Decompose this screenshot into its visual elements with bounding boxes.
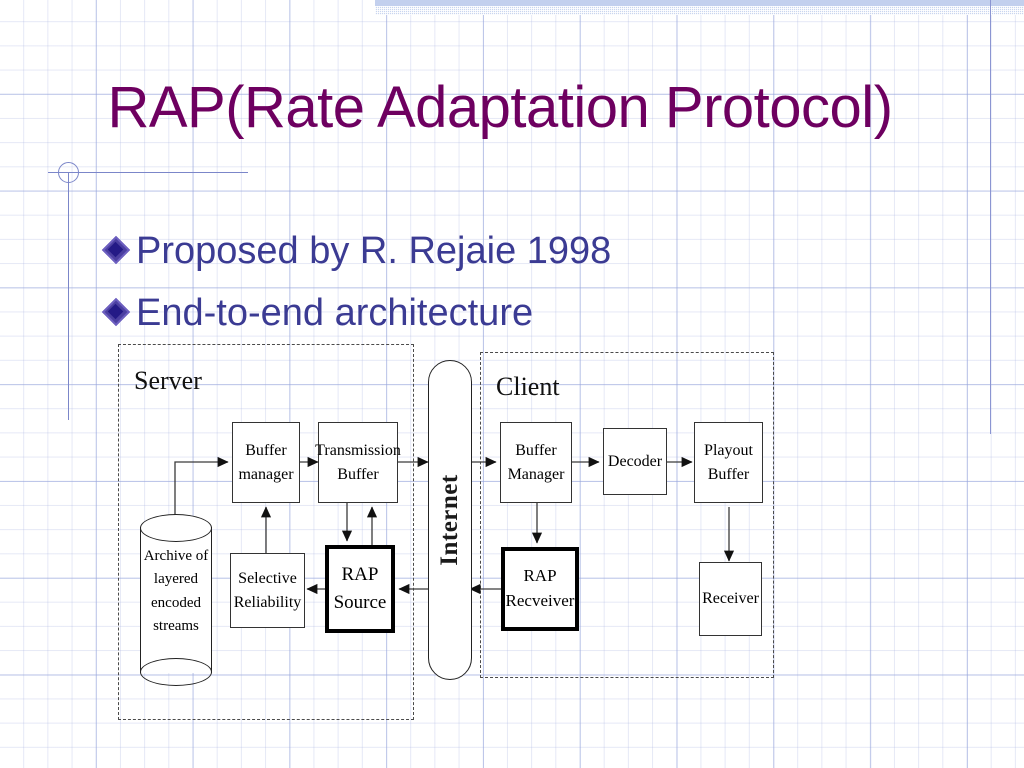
internet-label: Internet	[436, 474, 464, 565]
node-transmission-buffer: TransmissionBuffer	[318, 422, 398, 503]
server-zone-label: Server	[134, 366, 202, 396]
node-rap-receiver: RAPRecveiver	[501, 547, 579, 631]
node-playout-buffer: PlayoutBuffer	[694, 422, 763, 503]
node-buffer-manager: Buffermanager	[232, 422, 300, 503]
internet-cloud: Internet	[428, 360, 472, 680]
node-decoder: Decoder	[603, 428, 667, 495]
archive-label: Archive oflayeredencodedstreams	[141, 545, 211, 638]
node-receiver: Receiver	[699, 562, 762, 636]
node-client-buffer-manager: BufferManager	[500, 422, 572, 503]
node-selective-reliability: SelectiveReliability	[230, 553, 305, 628]
architecture-diagram: Server Client	[0, 0, 1024, 768]
archive-cylinder: Archive oflayeredencodedstreams	[140, 527, 212, 673]
slide-canvas: RAP(Rate Adaptation Protocol) Proposed b…	[0, 0, 1024, 768]
node-rap-source: RAPSource	[325, 545, 395, 633]
cylinder-top-ellipse	[140, 514, 212, 542]
cylinder-bottom-ellipse	[140, 658, 212, 686]
client-zone-label: Client	[496, 372, 560, 402]
